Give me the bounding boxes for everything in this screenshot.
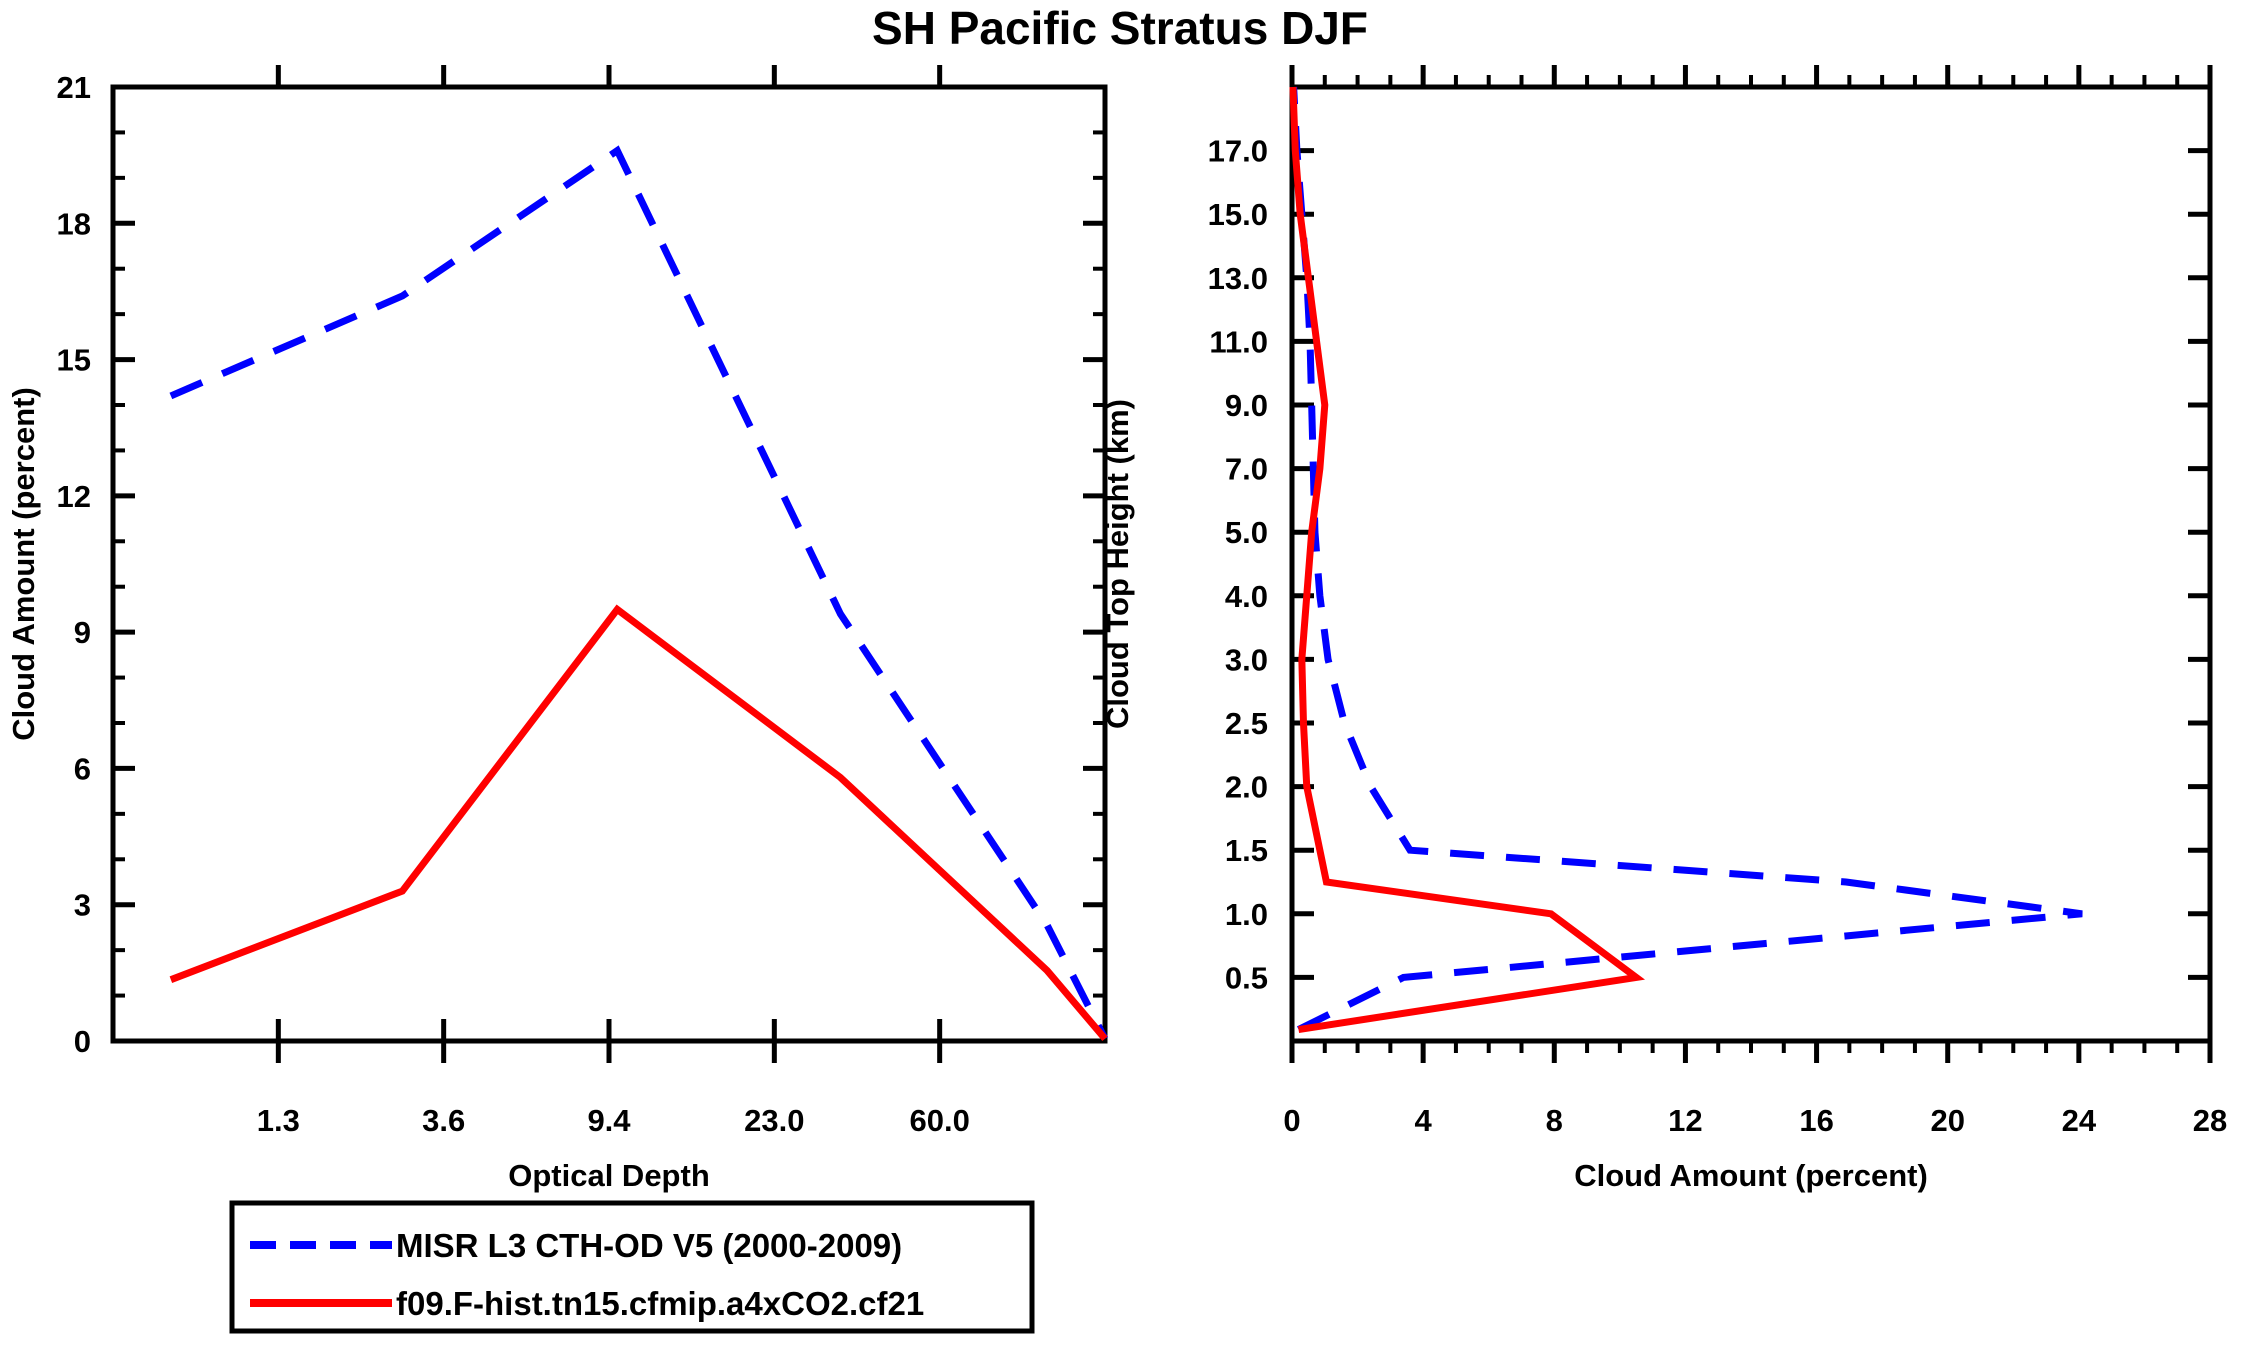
cth-y-tick-label: 1.0 [1225, 897, 1268, 932]
cth-y-tick-label: 2.0 [1225, 770, 1268, 805]
cth-y-tick-label: 9.0 [1225, 388, 1268, 423]
cth-y-tick-label: 5.0 [1225, 515, 1268, 550]
cth-x-tick-label: 8 [1546, 1103, 1563, 1138]
cth-y-tick-label: 11.0 [1209, 324, 1268, 359]
cth-series-line-observation [1294, 87, 2082, 1030]
cth-y-tick-label: 4.0 [1225, 579, 1268, 614]
cth-y-tick-label: 13.0 [1208, 261, 1268, 296]
y-tick-label: 21 [57, 70, 91, 105]
cth-y-tick-label: 17.0 [1208, 134, 1268, 169]
legend-label-observation: MISR L3 CTH-OD V5 (2000-2009) [396, 1227, 902, 1264]
series-line-model [171, 609, 1105, 1038]
cth-x-tick-label: 20 [1930, 1103, 1964, 1138]
cth-x-tick-label: 28 [2193, 1103, 2227, 1138]
cth-x-tick-label: 0 [1283, 1103, 1300, 1138]
cth-y-axis-label: Cloud Top Height (km) [1100, 399, 1135, 729]
cth-y-tick-label: 7.0 [1225, 452, 1268, 487]
y-tick-label: 18 [57, 206, 91, 241]
y-tick-label: 12 [57, 479, 91, 514]
x-axis-label: Optical Depth [508, 1158, 710, 1193]
cth-x-tick-label: 12 [1668, 1103, 1702, 1138]
y-tick-label: 6 [74, 751, 91, 786]
cth-x-tick-label: 24 [2062, 1103, 2097, 1138]
cth-series-line-model [1293, 87, 1636, 1030]
chart-canvas: SH Pacific Stratus DJF0369121518211.33.6… [0, 0, 2241, 1367]
cth-y-tick-label: 0.5 [1225, 960, 1268, 995]
y-axis-label: Cloud Amount (percent) [6, 387, 41, 741]
legend-label-model: f09.F-hist.tn15.cfmip.a4xCO2.cf21 [396, 1285, 924, 1322]
x-tick-label: 60.0 [909, 1103, 969, 1138]
left-plot-frame [113, 87, 1105, 1041]
y-tick-label: 9 [74, 615, 91, 650]
cth-y-tick-label: 1.5 [1225, 833, 1268, 868]
x-tick-label: 3.6 [422, 1103, 465, 1138]
cth-y-tick-label: 15.0 [1208, 197, 1268, 232]
y-tick-label: 3 [74, 888, 91, 923]
y-tick-label: 0 [74, 1024, 91, 1059]
page-title: SH Pacific Stratus DJF [872, 2, 1368, 54]
x-tick-label: 1.3 [257, 1103, 300, 1138]
cth-x-axis-label: Cloud Amount (percent) [1574, 1158, 1928, 1193]
series-line-observation [171, 151, 1105, 1039]
cth-x-tick-label: 16 [1799, 1103, 1833, 1138]
x-tick-label: 9.4 [587, 1103, 631, 1138]
figure-root: SH Pacific Stratus DJF0369121518211.33.6… [0, 0, 2241, 1367]
cth-y-tick-label: 2.5 [1225, 706, 1268, 741]
cth-x-tick-label: 4 [1415, 1103, 1433, 1138]
y-tick-label: 15 [57, 343, 91, 378]
cth-y-tick-label: 3.0 [1225, 642, 1268, 677]
x-tick-label: 23.0 [744, 1103, 804, 1138]
